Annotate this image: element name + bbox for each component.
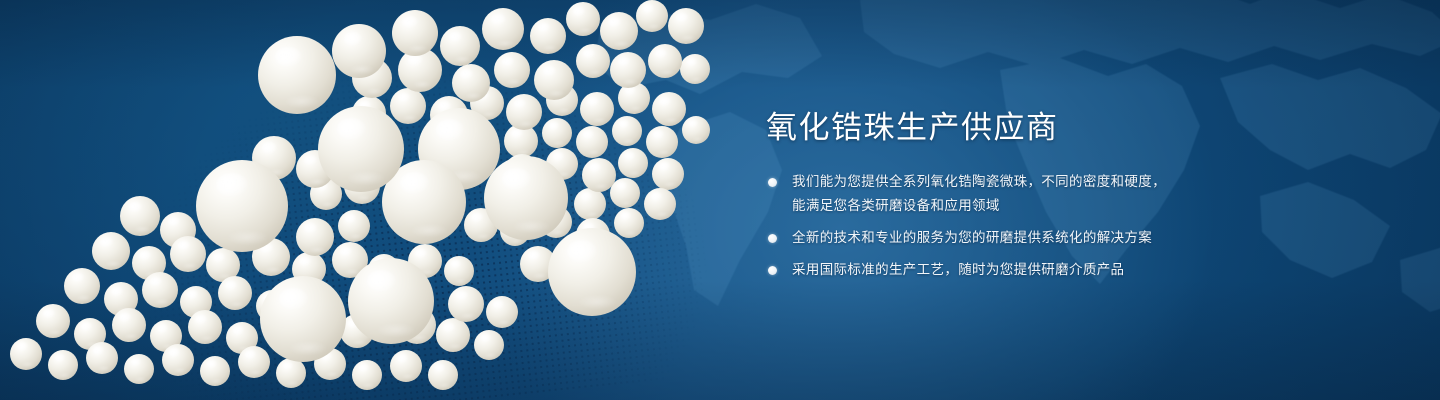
feature-list-item-line: 全新的技术和专业的服务为您的研磨提供系统化的解决方案 (792, 226, 1286, 250)
bullet-dot-icon (768, 178, 777, 187)
zirconia-bead (258, 36, 336, 114)
zirconia-bead (318, 106, 404, 192)
zirconia-bead (576, 126, 608, 158)
zirconia-bead (86, 342, 118, 374)
zirconia-bead (448, 286, 484, 322)
zirconia-bead (680, 54, 710, 84)
zirconia-bead (644, 188, 676, 220)
feature-list-item: 我们能为您提供全系列氧化锆陶瓷微珠，不同的密度和硬度，能满足您各类研磨设备和应用… (766, 170, 1286, 218)
banner-copy: 氧化锆珠生产供应商 我们能为您提供全系列氧化锆陶瓷微珠，不同的密度和硬度，能满足… (766, 108, 1286, 282)
zirconia-bead (582, 158, 616, 192)
zirconia-bead (610, 178, 640, 208)
zirconia-bead (92, 232, 130, 270)
zirconia-bead (482, 8, 524, 50)
hero-banner: 氧化锆珠生产供应商 我们能为您提供全系列氧化锆陶瓷微珠，不同的密度和硬度，能满足… (0, 0, 1440, 400)
feature-list-item-line: 采用国际标准的生产工艺，随时为您提供研磨介质产品 (792, 258, 1286, 282)
zirconia-bead (548, 228, 636, 316)
zirconia-bead (486, 296, 518, 328)
zirconia-bead (668, 8, 704, 44)
zirconia-bead (196, 160, 288, 252)
zirconia-bead (444, 256, 474, 286)
zirconia-bead (452, 64, 490, 102)
feature-list-item-line: 能满足您各类研磨设备和应用领域 (792, 194, 1286, 218)
zirconia-bead (600, 12, 638, 50)
zirconia-bead (112, 308, 146, 342)
zirconia-bead (618, 148, 648, 178)
zirconia-bead (170, 236, 206, 272)
zirconia-bead (648, 44, 682, 78)
feature-list: 我们能为您提供全系列氧化锆陶瓷微珠，不同的密度和硬度，能满足您各类研磨设备和应用… (766, 170, 1286, 282)
zirconia-bead (652, 158, 684, 190)
zirconia-bead (542, 118, 572, 148)
zirconia-bead (120, 196, 160, 236)
zirconia-bead (218, 276, 252, 310)
zirconia-bead (534, 60, 574, 100)
feature-list-item-line: 我们能为您提供全系列氧化锆陶瓷微珠，不同的密度和硬度， (792, 170, 1286, 194)
zirconia-bead (436, 318, 470, 352)
zirconia-bead (646, 126, 678, 158)
page-title: 氧化锆珠生产供应商 (766, 108, 1286, 148)
zirconia-bead (610, 52, 646, 88)
zirconia-bead (48, 350, 78, 380)
zirconia-bead (614, 208, 644, 238)
zirconia-bead (332, 24, 386, 78)
zirconia-bead (338, 210, 370, 242)
zirconia-bead (142, 272, 178, 308)
zirconia-bead (636, 0, 668, 32)
zirconia-bead (64, 268, 100, 304)
feature-list-item: 全新的技术和专业的服务为您的研磨提供系统化的解决方案 (766, 226, 1286, 250)
feature-list-item: 采用国际标准的生产工艺，随时为您提供研磨介质产品 (766, 258, 1286, 282)
zirconia-bead (440, 26, 480, 66)
zirconia-bead (612, 116, 642, 146)
zirconia-bead (474, 330, 504, 360)
zirconia-bead (200, 356, 230, 386)
zirconia-bead (494, 52, 530, 88)
zirconia-bead (162, 344, 194, 376)
zirconia-bead (188, 310, 222, 344)
zirconia-bead (296, 218, 334, 256)
bullet-dot-icon (768, 266, 777, 275)
zirconia-bead (428, 360, 458, 390)
zirconia-bead (124, 354, 154, 384)
zirconia-bead (392, 10, 438, 56)
zirconia-bead (574, 188, 606, 220)
zirconia-bead (652, 92, 686, 126)
zirconia-bead (576, 44, 610, 78)
zirconia-bead (276, 358, 306, 388)
bullet-dot-icon (768, 234, 777, 243)
zirconia-bead (566, 2, 600, 36)
zirconia-bead (352, 360, 382, 390)
zirconia-bead (10, 338, 42, 370)
zirconia-bead (390, 88, 426, 124)
zirconia-bead (530, 18, 566, 54)
zirconia-bead (484, 156, 568, 240)
zirconia-bead (260, 276, 346, 362)
zirconia-bead (238, 346, 270, 378)
zirconia-bead (390, 350, 422, 382)
zirconia-bead (580, 92, 614, 126)
zirconia-bead (36, 304, 70, 338)
zirconia-bead (506, 94, 542, 130)
zirconia-bead (348, 258, 434, 344)
zirconia-bead (682, 116, 710, 144)
